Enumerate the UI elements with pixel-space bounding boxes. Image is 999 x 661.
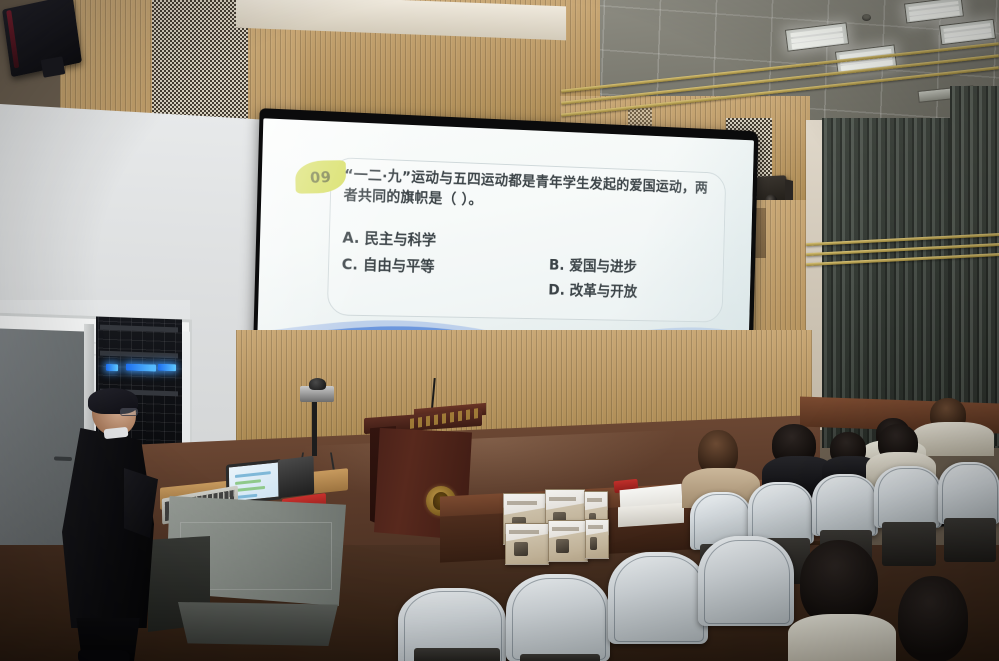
- seat-base-5: [944, 518, 996, 562]
- seat-base-front-2: [520, 654, 600, 661]
- rack-led-2: [106, 364, 118, 371]
- option-c[interactable]: C. 自由与平等: [341, 253, 434, 276]
- av-control-console[interactable]: [148, 452, 348, 632]
- rack-led-1: [126, 364, 156, 372]
- option-c-text: 自由与平等: [363, 256, 435, 275]
- wall-monitor-bracket: [41, 56, 66, 78]
- option-c-letter: C.: [341, 255, 358, 273]
- presenter: [62, 392, 158, 660]
- seat-cover-front-2: [506, 574, 610, 661]
- seat-cover-front-3: [608, 552, 708, 644]
- stage-curtain-second: [950, 86, 999, 446]
- option-b[interactable]: B. 爱国与进步: [549, 254, 637, 276]
- laptop-screen[interactable]: [278, 456, 314, 499]
- option-b-text: 爱国与进步: [569, 257, 637, 276]
- seat-base-front-1: [414, 648, 500, 661]
- camera-stand-pole: [312, 400, 317, 456]
- option-a[interactable]: A. 民主与科学: [342, 227, 436, 250]
- rack-led-3: [158, 364, 176, 372]
- smoke-detector-icon: [862, 14, 871, 21]
- box-6: [585, 519, 609, 559]
- option-d[interactable]: D. 改革与开放: [548, 279, 637, 301]
- screen-surface: 09 “一二·九”运动与五四运动都是青年学生发起的爱国运动，两者共同的旗帜是（ …: [257, 118, 754, 360]
- option-d-letter: D.: [548, 281, 565, 299]
- presenter-shoe: [78, 650, 130, 661]
- option-a-letter: A.: [342, 229, 359, 247]
- audience-head-front-2: [898, 576, 968, 661]
- console-base: [178, 602, 338, 646]
- seat-base-4: [882, 522, 936, 566]
- seat-cover-3: [812, 474, 878, 536]
- seat-cover-5: [938, 462, 999, 524]
- box-4: [505, 523, 549, 565]
- seat-cover-4: [874, 466, 942, 528]
- ptz-camera-icon: [300, 386, 334, 402]
- lecture-hall-photo: 09 “一二·九”运动与五四运动都是青年学生发起的爱国运动，两者共同的旗帜是（ …: [0, 0, 999, 661]
- box-5: [548, 520, 588, 562]
- option-a-text: 民主与科学: [364, 229, 436, 249]
- option-d-text: 改革与开放: [569, 281, 637, 300]
- eyeglasses-icon: [120, 408, 138, 416]
- slide-number-text: 09: [310, 167, 332, 186]
- seat-cover-2: [748, 482, 814, 544]
- audience-shoulder-front-1: [788, 614, 896, 661]
- seat-cover-front-4: [698, 536, 794, 626]
- slide-content: 09 “一二·九”运动与五四运动都是青年学生发起的爱国运动，两者共同的旗帜是（ …: [257, 118, 754, 360]
- option-b-letter: B.: [549, 256, 565, 274]
